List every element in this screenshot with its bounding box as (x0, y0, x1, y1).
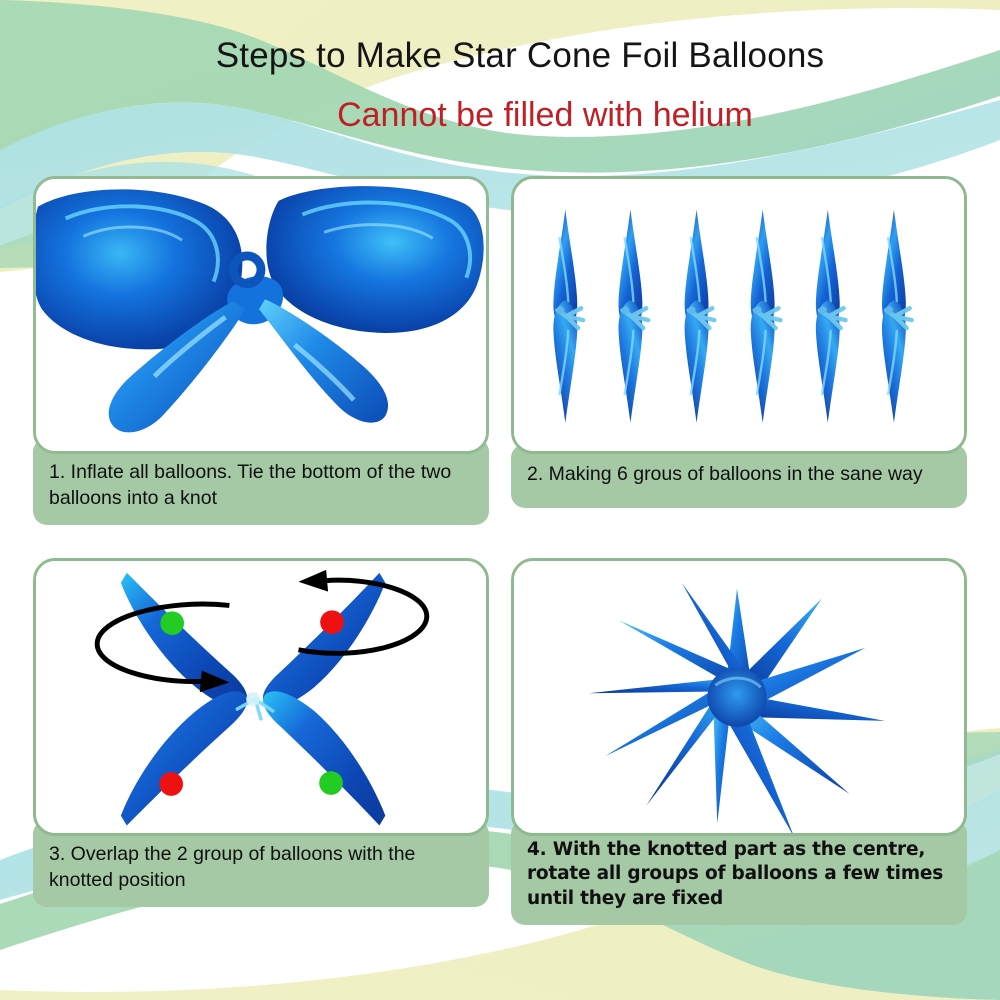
poster-root: Steps to Make Star Cone Foil Balloons Ca… (0, 0, 1000, 1000)
poster-header: Steps to Make Star Cone Foil Balloons Ca… (0, 0, 1000, 160)
step-2-photo-frame (511, 176, 967, 454)
red-dot-bottom-left (159, 772, 183, 796)
star-core (707, 668, 766, 727)
red-dot-top-right (320, 610, 344, 634)
two-tied-foil-balloons-photo (36, 179, 486, 453)
steps-grid: 1. Inflate all balloons. Tie the bottom … (0, 176, 1000, 936)
green-dot-top-left (160, 611, 184, 635)
finished-star-cone-balloon-photo (514, 561, 964, 835)
step-card-3: 3. Overlap the 2 group of balloons with … (33, 558, 489, 907)
step-card-2: 2. Making 6 grous of balloons in the san… (511, 176, 967, 508)
step-4-photo-frame (511, 558, 967, 836)
overlap-two-groups-diagram (36, 561, 486, 835)
step-card-1: 1. Inflate all balloons. Tie the bottom … (33, 176, 489, 525)
helium-warning-text: Cannot be filled with helium (0, 96, 1000, 135)
green-dot-bottom-right (319, 771, 343, 795)
page-title: Steps to Make Star Cone Foil Balloons (0, 36, 1000, 76)
step-3-photo-frame (33, 558, 489, 836)
step-card-4: 4. With the knotted part as the centre, … (511, 558, 967, 925)
step-1-photo-frame (33, 176, 489, 454)
six-groups-of-cone-balloons-photo (514, 179, 964, 453)
